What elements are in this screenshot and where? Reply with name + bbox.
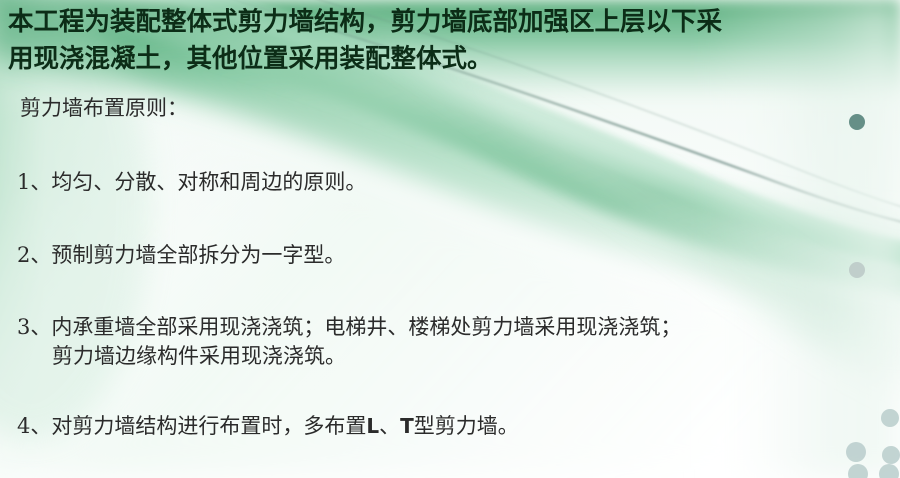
list-item: 1、均匀、分散、对称和周边的原则。 [17, 168, 366, 197]
shape-letter-t: T [400, 414, 414, 438]
dot-cluster-d [848, 464, 868, 478]
dot-upper-right-dark [849, 114, 865, 130]
presentation-slide: 本工程为装配整体式剪力墙结构，剪力墙底部加强区上层以下采 用现浇混凝土，其他位置… [0, 0, 900, 478]
dot-mid-right-gray [849, 262, 865, 278]
list-item-line: 2、预制剪力墙全部拆分为一字型。 [17, 241, 345, 270]
dot-cluster-c [882, 446, 900, 464]
list-item-text-post: 型剪力墙。 [414, 414, 519, 438]
list-item: 4、对剪力墙结构进行布置时，多布置L、T型剪力墙。 [17, 412, 519, 441]
title-line-1: 本工程为装配整体式剪力墙结构，剪力墙底部加强区上层以下采 [8, 4, 896, 41]
list-item-line: 3、内承重墙全部采用现浇浇筑；电梯井、楼梯处剪力墙采用现浇浇筑； [17, 313, 681, 342]
list-item: 2、预制剪力墙全部拆分为一字型。 [17, 241, 345, 270]
dot-cluster-a [881, 409, 899, 427]
list-item-line-continued: 剪力墙边缘构件采用现浇浇筑。 [17, 342, 681, 371]
list-item-text-pre: 4、对剪力墙结构进行布置时，多布置 [17, 414, 366, 438]
dot-cluster-b [846, 442, 866, 462]
slide-title: 本工程为装配整体式剪力墙结构，剪力墙底部加强区上层以下采 用现浇混凝土，其他位置… [8, 4, 896, 78]
shape-letter-l: L [366, 414, 379, 438]
body-heading: 剪力墙布置原则： [20, 94, 188, 123]
list-item-separator: 、 [379, 414, 400, 438]
title-line-2: 用现浇混凝土，其他位置采用装配整体式。 [8, 41, 896, 78]
list-item-line: 4、对剪力墙结构进行布置时，多布置L、T型剪力墙。 [17, 412, 519, 441]
list-item-line: 1、均匀、分散、对称和周边的原则。 [17, 168, 366, 197]
dot-cluster-e [879, 464, 899, 478]
list-item: 3、内承重墙全部采用现浇浇筑；电梯井、楼梯处剪力墙采用现浇浇筑； 剪力墙边缘构件… [17, 313, 681, 371]
